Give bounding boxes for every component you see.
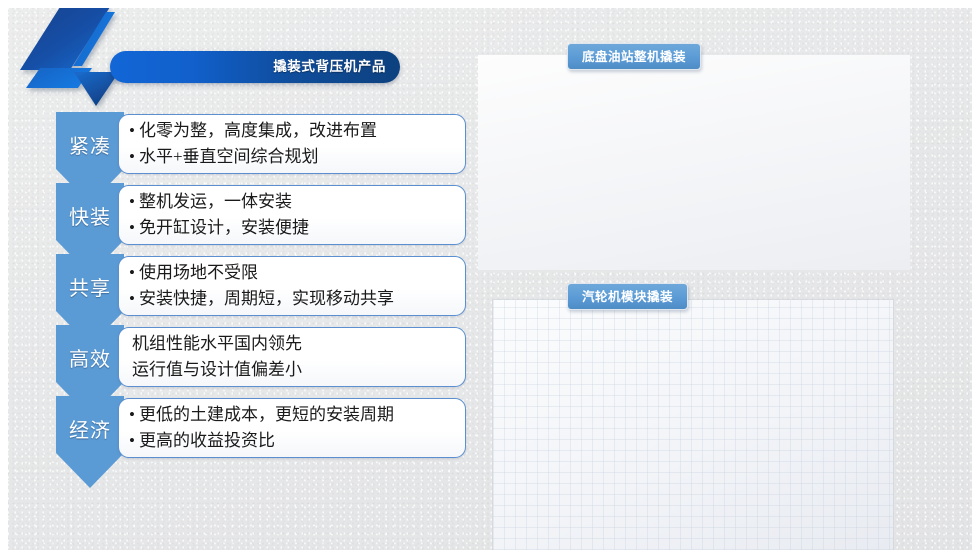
feature-row: 紧凑 化零为整，高度集成，改进布置 水平+垂直空间综合规划 xyxy=(56,112,471,183)
feature-bullet: 化零为整，高度集成，改进布置 xyxy=(129,118,459,144)
feature-row: 经济 更低的土建成本，更短的安装周期 更高的收益投资比 xyxy=(56,396,471,467)
photo-background xyxy=(478,55,910,270)
feature-bullet: 更低的土建成本，更短的安装周期 xyxy=(129,402,459,428)
page-title: 撬装式背压机产品 xyxy=(273,51,386,83)
feature-bullet: 更高的收益投资比 xyxy=(129,428,459,454)
photo-caption-top: 底盘油站整机撬装 xyxy=(567,43,701,70)
feature-row: 高效 机组性能水平国内领先 运行值与设计值偏差小 xyxy=(56,325,471,396)
feature-text-box: 机组性能水平国内领先 运行值与设计值偏差小 xyxy=(118,327,466,387)
slide-edge-right xyxy=(972,0,980,559)
feature-text-box: 整机发运，一体安装 免开缸设计，安装便捷 xyxy=(118,185,466,245)
photo-caption-bottom: 汽轮机模块撬装 xyxy=(567,283,688,310)
chevron-tag-icon xyxy=(56,396,124,488)
feature-text-box: 更低的土建成本，更短的安装周期 更高的收益投资比 xyxy=(118,398,466,458)
feature-bullet: 水平+垂直空间综合规划 xyxy=(129,144,459,170)
slide-title-banner: 撬装式背压机产品 xyxy=(110,51,400,83)
feature-line: 运行值与设计值偏差小 xyxy=(129,357,459,383)
photo-background xyxy=(493,300,893,550)
photo-chassis-oil-station xyxy=(478,55,910,270)
photo-turbine-module xyxy=(493,300,893,550)
feature-text-box: 化零为整，高度集成，改进布置 水平+垂直空间综合规划 xyxy=(118,114,466,174)
feature-bullet: 安装快捷，周期短，实现移动共享 xyxy=(129,286,459,312)
feature-text-box: 使用场地不受限 安装快捷，周期短，实现移动共享 xyxy=(118,256,466,316)
feature-bullet: 使用场地不受限 xyxy=(129,260,459,286)
feature-line: 机组性能水平国内领先 xyxy=(129,331,459,357)
feature-bullet: 整机发运，一体安装 xyxy=(129,189,459,215)
slide-canvas: 撬装式背压机产品 紧凑 化零为整，高度集成，改进布置 水平+垂直空间综合规划 快… xyxy=(0,0,980,559)
feature-row: 快装 整机发运，一体安装 免开缸设计，安装便捷 xyxy=(56,183,471,254)
slide-edge-left xyxy=(0,0,8,559)
feature-list: 紧凑 化零为整，高度集成，改进布置 水平+垂直空间综合规划 快装 整机发运，一体… xyxy=(56,112,471,467)
feature-bullet: 免开缸设计，安装便捷 xyxy=(129,215,459,241)
feature-row: 共享 使用场地不受限 安装快捷，周期短，实现移动共享 xyxy=(56,254,471,325)
